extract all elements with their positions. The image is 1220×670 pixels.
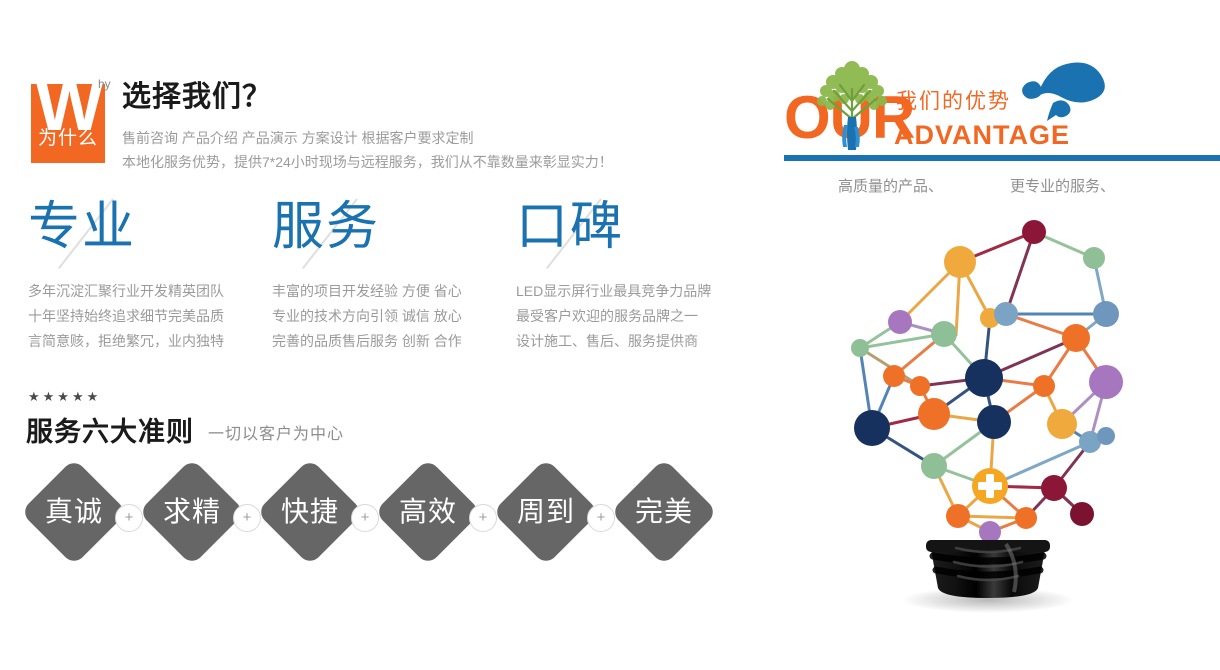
why-logo-superscript: hy bbox=[98, 78, 111, 90]
network-lightbulb-illustration bbox=[838, 196, 1138, 616]
feature-columns: 专业 多年沉淀汇聚行业开发精英团队 十年坚持始终追求细节完美品质 言简意赅，拒绝… bbox=[0, 195, 760, 365]
feature-heading-2: 服务 bbox=[272, 195, 380, 259]
feature-line: 最受客户欢迎的服务品牌之一 bbox=[516, 304, 756, 329]
water-drop-icon bbox=[1015, 55, 1125, 125]
feature-heading-1: 专业 bbox=[28, 195, 136, 259]
principles-diamond-row: 真诚 + 求精 + 快捷 + 高效 + 周到 + 完美 bbox=[0, 466, 760, 586]
feature-column-2: 服务 丰富的项目开发经验 方便 省心 专业的技术方向引领 诚信 放心 完善的品质… bbox=[272, 195, 512, 354]
feature-line: 多年沉淀汇聚行业开发精英团队 bbox=[28, 279, 268, 304]
feature-body-3: LED显示屏行业最具竞争力品牌 最受客户欢迎的服务品牌之一 设计施工、售后、服务… bbox=[516, 279, 756, 354]
diamond-label-6: 完美 bbox=[610, 474, 718, 550]
feature-line: 言简意赅，拒绝繁冗，业内独特 bbox=[28, 329, 268, 354]
star-rating: ★★★★★ bbox=[28, 390, 101, 403]
feature-heading-wrap-2: 服务 bbox=[272, 195, 512, 273]
feature-line: 十年坚持始终追求细节完美品质 bbox=[28, 304, 268, 329]
feature-body-1: 多年沉淀汇聚行业开发精英团队 十年坚持始终追求细节完美品质 言简意赅，拒绝繁冗，… bbox=[28, 279, 268, 354]
advantage-chinese-label: 我们的优势 bbox=[896, 90, 1011, 114]
diamond-label-3: 快捷 bbox=[256, 474, 364, 550]
feature-body-2: 丰富的项目开发经验 方便 省心 专业的技术方向引领 诚信 放心 完善的品质售后服… bbox=[272, 279, 512, 354]
feature-column-3: 口碑 LED显示屏行业最具竞争力品牌 最受客户欢迎的服务品牌之一 设计施工、售后… bbox=[516, 195, 756, 354]
diamond-label-4: 高效 bbox=[374, 474, 482, 550]
feature-heading-3: 口碑 bbox=[516, 195, 624, 259]
feature-heading-wrap-3: 口碑 bbox=[516, 195, 756, 273]
header-underline-bar bbox=[784, 155, 1220, 161]
advantage-subtitle-right: 更专业的服务、 bbox=[1010, 176, 1115, 198]
feature-line: 完善的品质售后服务 创新 合作 bbox=[272, 329, 512, 354]
feature-heading-wrap-1: 专业 bbox=[28, 195, 268, 273]
feature-column-1: 专业 多年沉淀汇聚行业开发精英团队 十年坚持始终追求细节完美品质 言简意赅，拒绝… bbox=[28, 195, 268, 354]
diamond-label-5: 周到 bbox=[492, 474, 600, 550]
right-panel: OUR 我们的优势 ADVANTAGE bbox=[760, 0, 1220, 670]
feature-line: LED显示屏行业最具竞争力品牌 bbox=[516, 279, 756, 304]
page-title: 选择我们？ bbox=[122, 80, 272, 114]
header-subline-1: 售前咨询 产品介绍 产品演示 方案设计 根据客户要求定制 bbox=[122, 129, 474, 147]
left-panel: W hy 为什么 选择我们？ 售前咨询 产品介绍 产品演示 方案设计 根据客户要… bbox=[0, 0, 760, 670]
feature-line: 设计施工、售后、服务提供商 bbox=[516, 329, 756, 354]
tree-icon bbox=[804, 55, 900, 150]
feature-line: 丰富的项目开发经验 方便 省心 bbox=[272, 279, 512, 304]
feature-line: 专业的技术方向引领 诚信 放心 bbox=[272, 304, 512, 329]
promo-banner: W hy 为什么 选择我们？ 售前咨询 产品介绍 产品演示 方案设计 根据客户要… bbox=[0, 0, 1220, 670]
diamond-label-2: 求精 bbox=[138, 474, 246, 550]
advantage-subtitle-left: 高质量的产品、 bbox=[838, 176, 943, 198]
why-logo-caption: 为什么 bbox=[31, 128, 105, 150]
diamond-label-1: 真诚 bbox=[20, 474, 128, 550]
header-subline-2: 本地化服务优势，提供7*24小时现场与远程服务，我们从不靠数量来彰显实力！ bbox=[122, 153, 613, 171]
principles-title: 服务六大准则 bbox=[26, 415, 194, 449]
principles-subtitle: 一切以客户为中心 bbox=[208, 422, 344, 448]
